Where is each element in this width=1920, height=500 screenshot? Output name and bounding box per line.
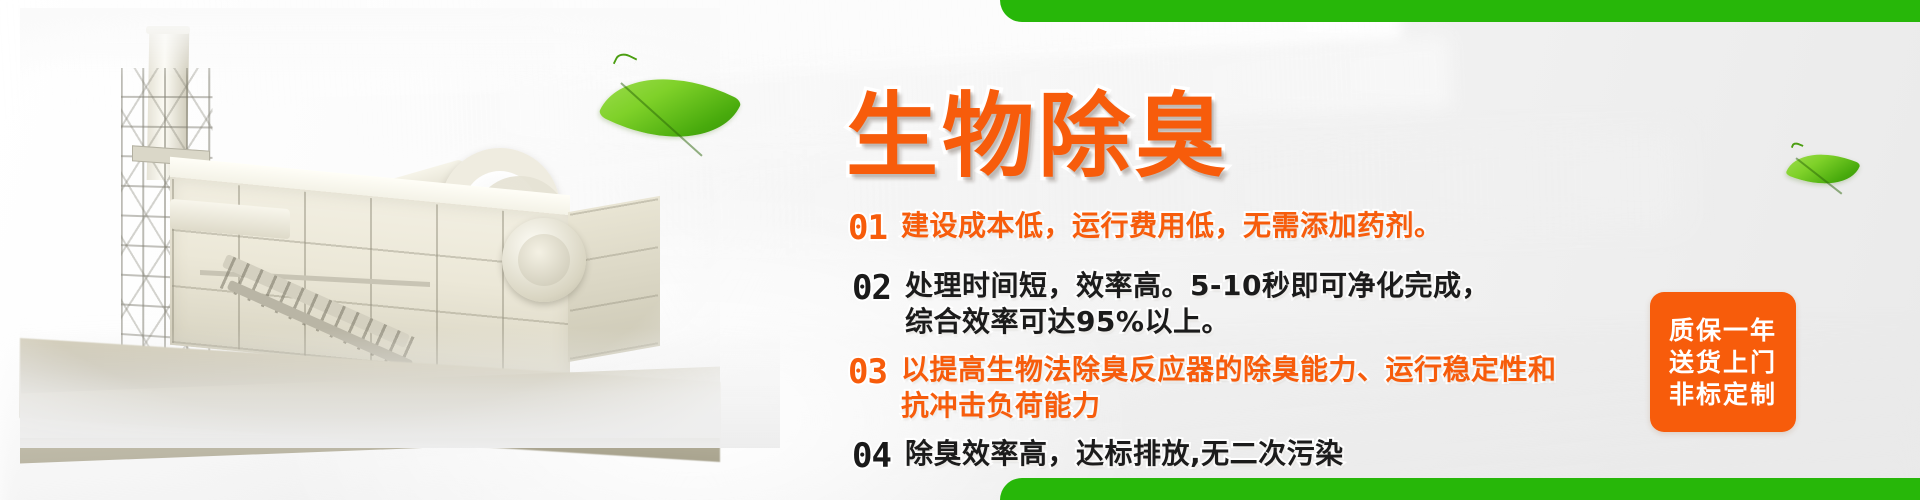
- feature-number: 01: [848, 208, 887, 245]
- banner-content: 生物除臭 01 建设成本低，运行费用低，无需添加药剂。 02 处理时间短，效率高…: [0, 0, 1920, 500]
- feature-number: 02: [852, 268, 891, 305]
- feature-number: 04: [852, 436, 891, 473]
- badge-line-delivery: 送货上门: [1669, 350, 1777, 375]
- badge-line-custom: 非标定制: [1669, 382, 1777, 407]
- service-guarantee-badge: 质保一年 送货上门 非标定制: [1650, 292, 1796, 432]
- feature-text: 以提高生物法除臭反应器的除臭能力、运行稳定性和 抗冲击负荷能力: [901, 352, 1557, 424]
- feature-text: 建设成本低，运行费用低，无需添加药剂。: [901, 208, 1443, 244]
- feature-number: 03: [848, 352, 887, 389]
- feature-text: 除臭效率高，达标排放,无二次污染: [905, 436, 1344, 472]
- feature-text: 处理时间短，效率高。5-10秒即可净化完成， 综合效率可达95%以上。: [905, 268, 1490, 340]
- banner-title: 生物除臭: [846, 62, 1230, 195]
- feature-item-04: 04 除臭效率高，达标排放,无二次污染: [852, 436, 1344, 473]
- feature-item-02: 02 处理时间短，效率高。5-10秒即可净化完成， 综合效率可达95%以上。: [852, 268, 1490, 340]
- product-banner: 生物除臭 01 建设成本低，运行费用低，无需添加药剂。 02 处理时间短，效率高…: [0, 0, 1920, 500]
- feature-item-01: 01 建设成本低，运行费用低，无需添加药剂。: [848, 208, 1442, 245]
- feature-item-03: 03 以提高生物法除臭反应器的除臭能力、运行稳定性和 抗冲击负荷能力: [848, 352, 1556, 424]
- badge-line-warranty: 质保一年: [1669, 318, 1777, 343]
